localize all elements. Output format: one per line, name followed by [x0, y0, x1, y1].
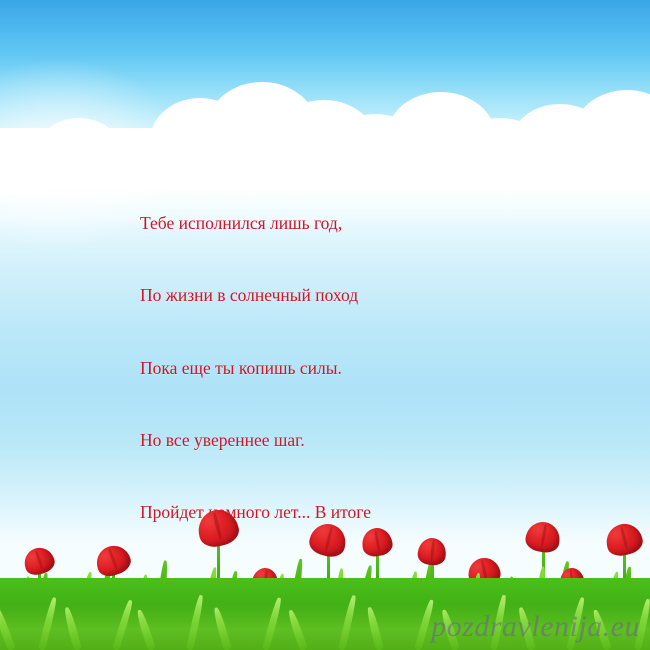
tulip-head	[21, 544, 58, 578]
poem-line: По жизни в солнечный поход	[140, 283, 540, 307]
tulip-head	[92, 541, 134, 580]
watermark: pozdravlenija.eu	[431, 610, 640, 644]
tulip-head	[194, 506, 242, 551]
tulip-head	[307, 520, 350, 560]
tulip-head	[524, 519, 563, 554]
poem-line: Но все увереннее шаг.	[140, 428, 540, 452]
greeting-card: Тебе исполнился лишь год, По жизни в сол…	[0, 0, 650, 650]
tulip-head	[360, 526, 394, 559]
tulip-head	[603, 520, 645, 559]
tulip-head	[417, 537, 448, 567]
poem-line: Пока еще ты копишь силы.	[140, 356, 540, 380]
poem-line: Тебе исполнился лишь год,	[140, 211, 540, 235]
